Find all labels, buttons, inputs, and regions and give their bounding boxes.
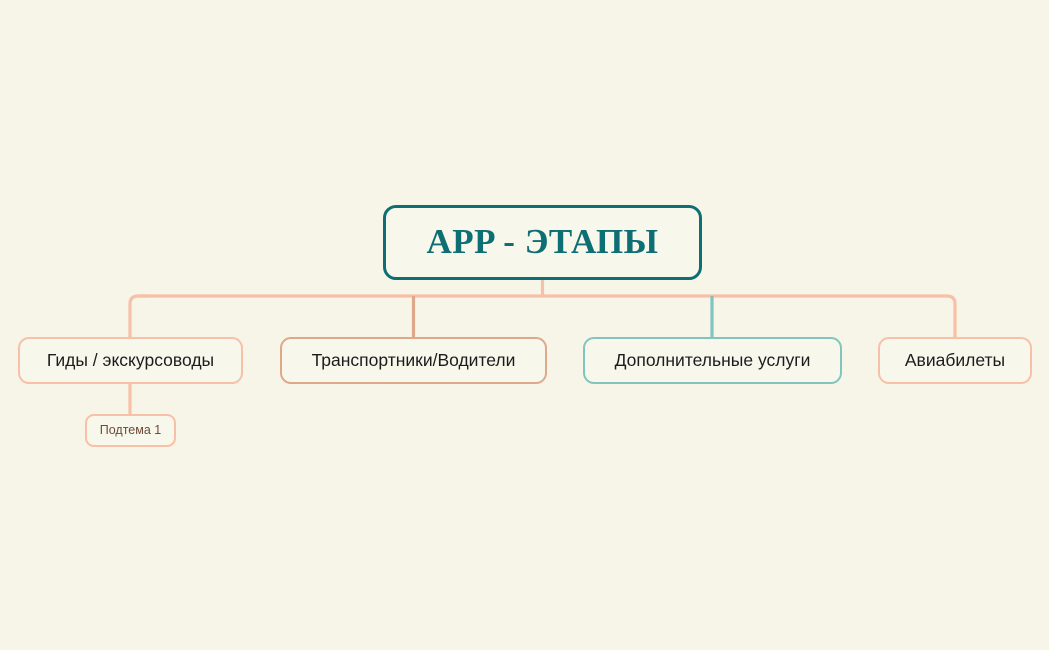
mindmap-node-subtopic-1[interactable]: Подтема 1 <box>85 414 176 447</box>
connector-branch-guides <box>130 296 147 337</box>
mindmap-root-label: APP - ЭТАПЫ <box>426 222 658 262</box>
mindmap-node-transport[interactable]: Транспортники/Водители <box>280 337 547 384</box>
mindmap-node-transport-label: Транспортники/Водители <box>312 350 516 370</box>
connector-branch-tickets <box>947 296 955 337</box>
mindmap-node-tickets[interactable]: Авиабилеты <box>878 337 1032 384</box>
mindmap-node-extra[interactable]: Дополнительные услуги <box>583 337 842 384</box>
mindmap-node-guides[interactable]: Гиды / экскурсоводы <box>18 337 243 384</box>
mindmap-node-extra-label: Дополнительные услуги <box>615 350 811 370</box>
mindmap-node-guides-label: Гиды / экскурсоводы <box>47 350 214 370</box>
connector-layer <box>0 0 1049 650</box>
mindmap-node-tickets-label: Авиабилеты <box>905 350 1005 370</box>
mindmap-canvas: APP - ЭТАПЫ Гиды / экскурсоводы Транспор… <box>0 0 1049 650</box>
mindmap-node-subtopic-1-label: Подтема 1 <box>100 423 161 437</box>
mindmap-root-node[interactable]: APP - ЭТАПЫ <box>383 205 702 280</box>
